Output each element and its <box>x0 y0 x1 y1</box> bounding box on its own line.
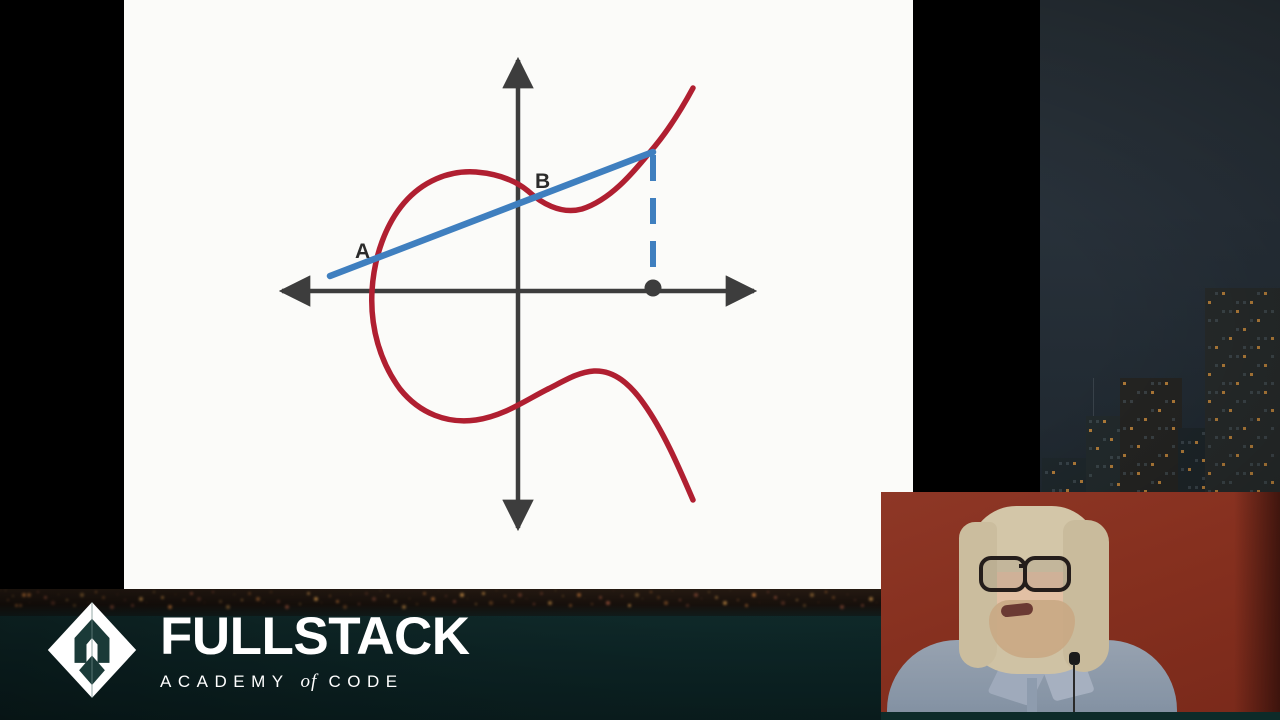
label-b: B <box>535 170 550 193</box>
label-a: A <box>355 240 370 263</box>
speaker-webcam-inset <box>881 492 1280 720</box>
logo-wordmark: FULLSTACK <box>160 610 470 663</box>
webcam-foreground-edge <box>881 712 1280 720</box>
screen: A B FULLSTACK <box>0 0 1280 720</box>
webcam-wall-shadow <box>1234 492 1280 720</box>
secant-line <box>330 152 653 276</box>
letterbox-left <box>0 0 124 589</box>
eyeglasses-left-lens <box>979 556 1027 592</box>
logo-tagline-academy: ACADEMY <box>160 672 289 691</box>
speaker-hair-right <box>1063 520 1109 672</box>
fullstack-logo: FULLSTACK ACADEMY of CODE <box>46 600 470 700</box>
fullstack-diamond-icon <box>46 600 138 700</box>
speaker-hair-left <box>959 522 997 668</box>
x-axis-point-marker <box>645 280 662 297</box>
eyeglasses-right-lens <box>1023 556 1071 592</box>
curve-lower-branch <box>548 371 693 500</box>
graph-figure: A B <box>124 0 913 589</box>
logo-tagline-of: of <box>301 671 318 692</box>
eyeglasses-bridge <box>1019 564 1025 568</box>
projected-slide: A B <box>124 0 913 589</box>
logo-text-block: FULLSTACK ACADEMY of CODE <box>160 610 470 691</box>
logo-tagline-code: CODE <box>329 672 404 691</box>
logo-tagline: ACADEMY of CODE <box>160 672 470 691</box>
curve-upper-branch <box>372 88 693 421</box>
